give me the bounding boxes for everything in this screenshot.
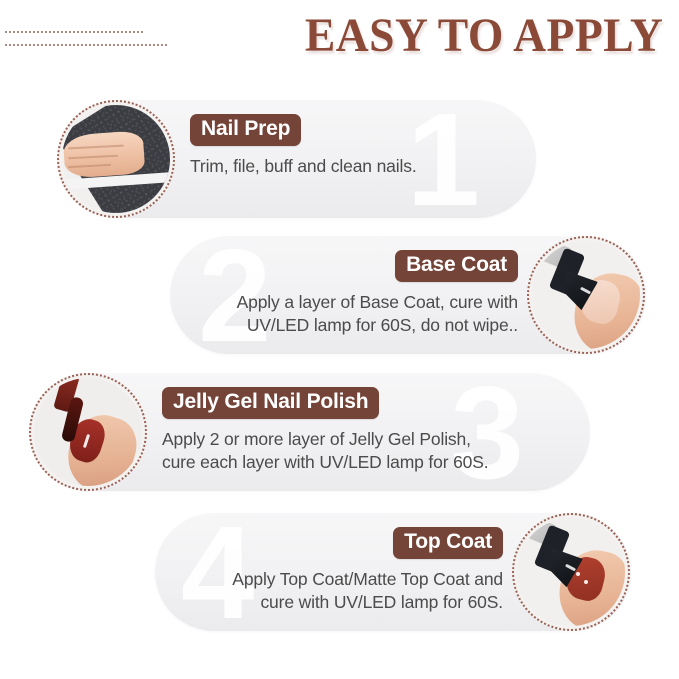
step-card-1: 1 Nail Prep Trim, file, buff and clean n… <box>60 100 536 218</box>
page-title: EASY TO APPLY <box>305 12 663 60</box>
step-description-1: Trim, file, buff and clean nails. <box>190 155 526 179</box>
step-photo-4 <box>512 513 630 631</box>
step-card-3: 3 Jelly Gel Nail Polish Apply 2 or more … <box>32 373 590 491</box>
step-card-4: 4 Top Coat Apply Top Coat/Matte Top Coat… <box>155 513 631 631</box>
dotted-rule-top-icon <box>4 31 144 33</box>
step-badge-nail-prep[interactable]: Nail Prep <box>190 114 301 146</box>
base-coat-brush-icon <box>532 241 640 349</box>
step-description-3: Apply 2 or more layer of Jelly Gel Polis… <box>162 428 590 475</box>
step-photo-3 <box>29 373 147 491</box>
step-photo-2 <box>527 236 645 354</box>
nail-file-icon <box>62 105 170 213</box>
step-card-2: 2 Base Coat Apply a layer of Base Coat, … <box>170 236 646 354</box>
step-description-2: Apply a layer of Base Coat, cure with UV… <box>178 291 518 338</box>
step-content-4: Top Coat Apply Top Coat/Matte Top Coat a… <box>163 527 503 615</box>
top-coat-brush-icon <box>517 518 625 626</box>
step-content-1: Nail Prep Trim, file, buff and clean nai… <box>190 114 526 178</box>
step-content-3: Jelly Gel Nail Polish Apply 2 or more la… <box>162 387 590 475</box>
steps-list: 1 Nail Prep Trim, file, buff and clean n… <box>0 88 679 679</box>
step-badge-base-coat[interactable]: Base Coat <box>395 250 518 282</box>
step-badge-top-coat[interactable]: Top Coat <box>393 527 503 559</box>
step-description-4: Apply Top Coat/Matte Top Coat and cure w… <box>163 568 503 615</box>
jelly-gel-polish-icon <box>34 378 142 486</box>
decorative-rules <box>4 31 194 57</box>
step-photo-1 <box>57 100 175 218</box>
dotted-rule-bottom-icon <box>4 44 169 46</box>
step-badge-jelly-gel-nail-polish[interactable]: Jelly Gel Nail Polish <box>162 387 379 419</box>
step-content-2: Base Coat Apply a layer of Base Coat, cu… <box>178 250 518 338</box>
page-header: EASY TO APPLY <box>0 0 679 88</box>
